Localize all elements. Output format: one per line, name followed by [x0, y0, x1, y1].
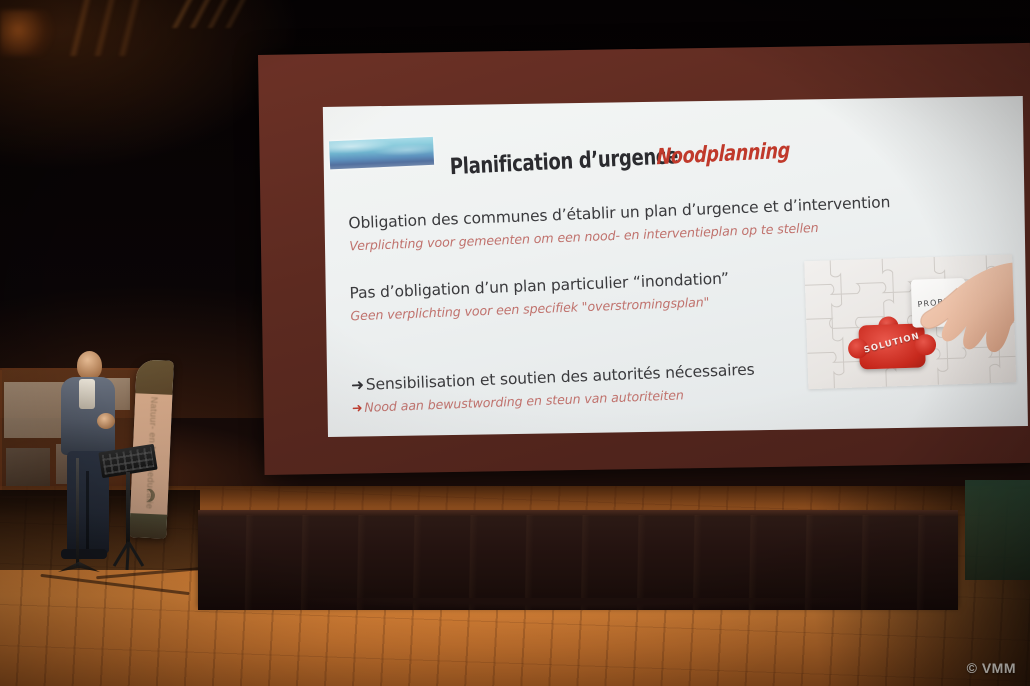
arrow-bullet-icon: ➜ [351, 376, 365, 394]
lighting-rig-streaks-secondary [126, 0, 256, 28]
speaker-shirt [79, 379, 95, 409]
speaker-microphone-stand [76, 458, 79, 566]
water-wave-logo [329, 137, 434, 170]
slide-title: Planification d’urgence Noodplanning [449, 127, 1010, 180]
hand-icon [900, 256, 1016, 378]
copyright-watermark: © VMM [967, 660, 1016, 676]
slide-block-1: Obligation des communes d’établir un pla… [348, 188, 1009, 254]
music-stand [100, 448, 156, 568]
slide-title-french: Planification d’urgence [449, 143, 678, 180]
puzzle-problem-solution-photo: SOLUTION PROBLEM [804, 254, 1016, 389]
music-stand-pole [126, 472, 130, 546]
projection-screen: Planification d’urgence Noodplanning Obl… [258, 43, 1030, 475]
conference-table [198, 515, 958, 610]
presentation-slide: Planification d’urgence Noodplanning Obl… [323, 96, 1028, 437]
speaker-head [77, 351, 102, 380]
arrow-bullet-icon-dutch: ➜ [352, 400, 363, 415]
slide-title-dutch: Noodplanning [657, 139, 791, 171]
table-cloth-folds [198, 515, 958, 610]
wall-photo [6, 448, 50, 486]
table-cloth-hem [198, 598, 958, 614]
music-stand-leg [126, 542, 130, 570]
conference-photo: Planification d’urgence Noodplanning Obl… [0, 0, 1030, 686]
stage-right-object [965, 480, 1030, 580]
speaker-hand [97, 413, 115, 429]
